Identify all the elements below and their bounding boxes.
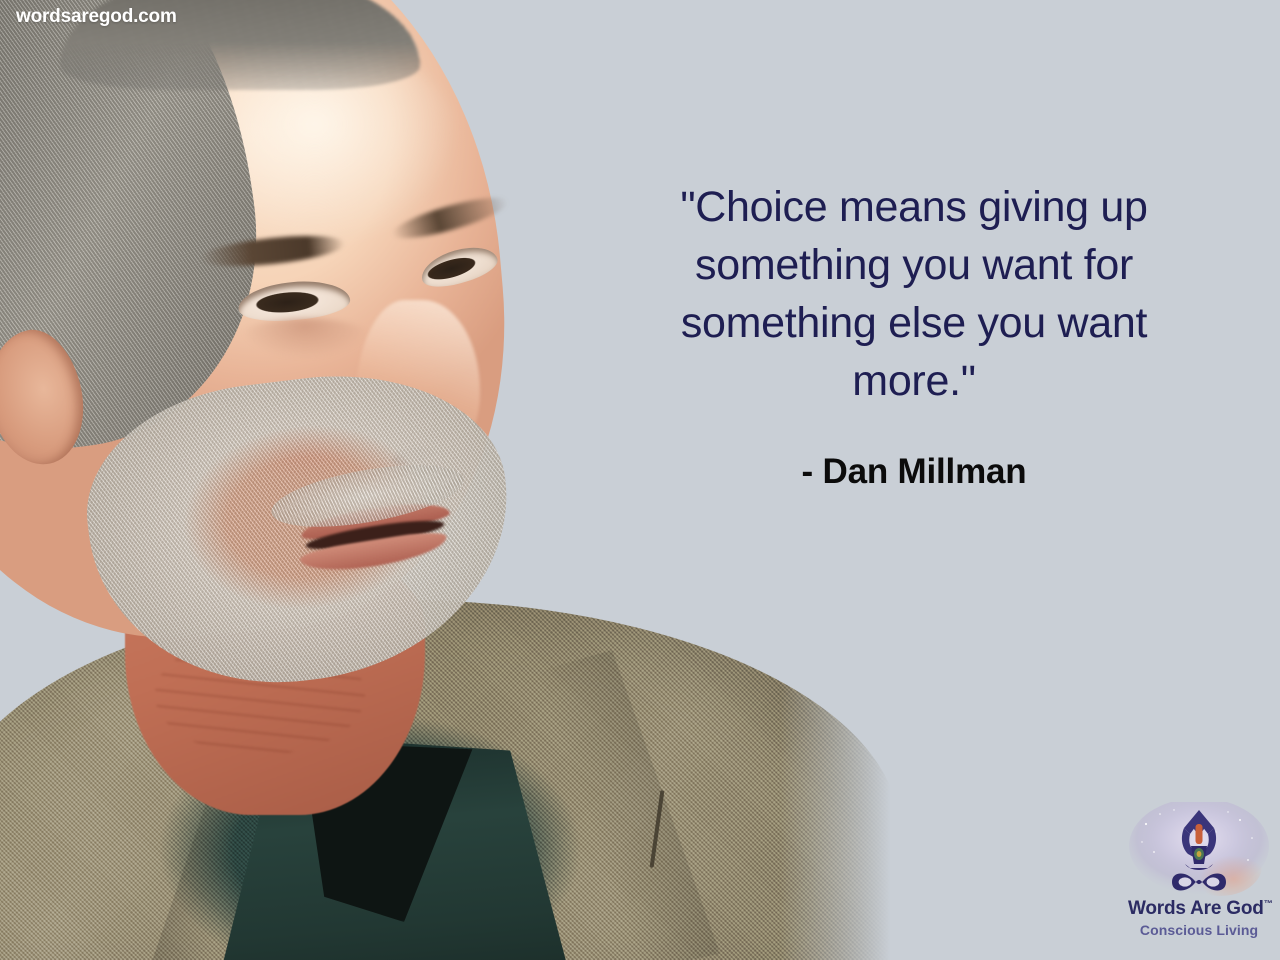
quote-block: "Choice means giving up something you wa… bbox=[650, 178, 1178, 492]
site-watermark: wordsaregod.com bbox=[16, 6, 177, 28]
logo-artwork bbox=[1128, 802, 1270, 902]
logo-title: Words Are God™ bbox=[1128, 898, 1270, 920]
quote-author: - Dan Millman bbox=[650, 452, 1178, 492]
quote-text: "Choice means giving up something you wa… bbox=[650, 178, 1178, 410]
trademark-icon: ™ bbox=[1264, 899, 1273, 909]
logo-title-text: Words Are God bbox=[1128, 898, 1264, 919]
under-eye-shadow bbox=[240, 318, 370, 358]
brand-logo[interactable]: Words Are God™ Conscious Living bbox=[1128, 802, 1270, 950]
quote-card: wordsaregod.com "Choice means giving up … bbox=[0, 0, 1280, 960]
logo-subtitle: Conscious Living bbox=[1128, 922, 1270, 938]
